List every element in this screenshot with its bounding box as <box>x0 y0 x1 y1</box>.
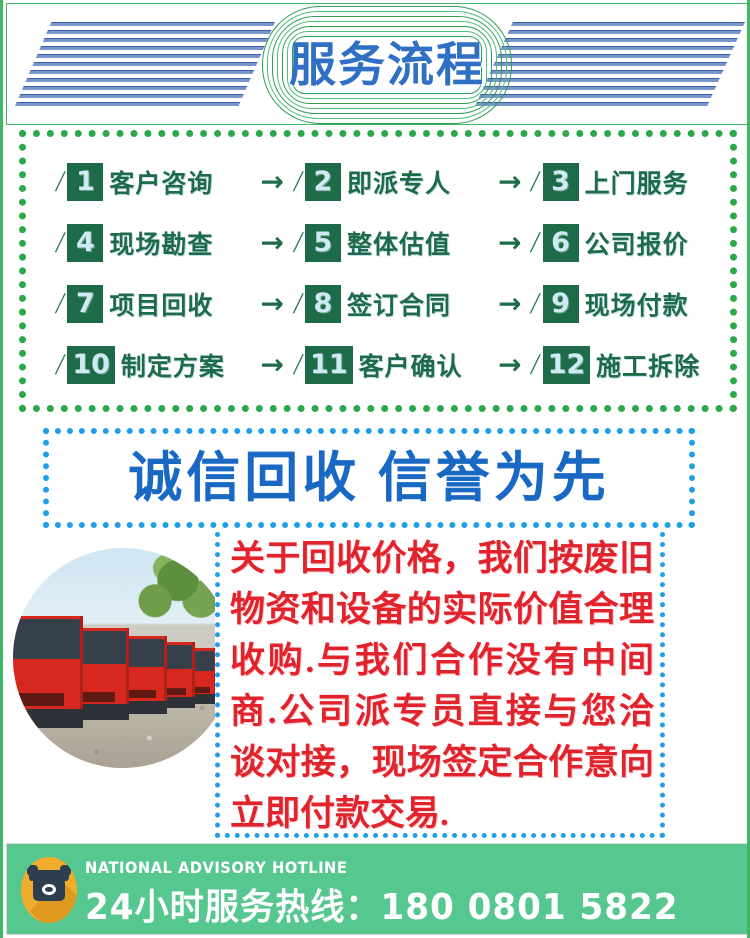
flow-step-3: /3上门服务 <box>531 163 726 201</box>
flow-step-12: /12施工拆除 <box>531 346 726 384</box>
truck-windshield <box>193 651 214 671</box>
step-label: 即派专人 <box>347 164 451 200</box>
truck <box>13 616 83 728</box>
slash-icon: / <box>529 289 542 319</box>
truck-windshield <box>13 619 80 659</box>
slash-icon: / <box>292 228 305 258</box>
step-label: 施工拆除 <box>596 347 700 383</box>
step-label: 公司报价 <box>585 225 689 261</box>
step-number: 6 <box>543 224 579 262</box>
arrow-icon: → <box>488 351 531 379</box>
slash-icon: / <box>54 228 67 258</box>
arrow-icon: → <box>488 290 531 318</box>
telephone-handset <box>29 870 69 881</box>
truck <box>75 628 129 720</box>
step-number: 1 <box>67 163 103 201</box>
flow-step-8: /8签订合同 <box>294 285 489 323</box>
flow-step-7: /7项目回收 <box>56 285 251 323</box>
truck-photo <box>13 548 233 768</box>
step-label: 上门服务 <box>585 164 689 200</box>
step-number: 4 <box>67 224 103 262</box>
flow-step-9: /9现场付款 <box>531 285 726 323</box>
truck-photo-image <box>13 548 233 768</box>
flow-row: /7项目回收→/8签订合同→/9现场付款 <box>30 275 726 333</box>
step-label: 签订合同 <box>347 286 451 322</box>
page-title: 服务流程 <box>289 42 485 89</box>
telephone-icon <box>21 857 77 923</box>
step-number: 8 <box>305 285 341 323</box>
arrow-icon: → <box>251 351 294 379</box>
footer-hotline-bar: NATIONAL ADVISORY HOTLINE 24小时服务热线：180 0… <box>6 843 750 935</box>
slash-icon: / <box>54 350 67 380</box>
page-title-wrap: 服务流程 <box>262 6 512 124</box>
flow-row: /1客户咨询→/2即派专人→/3上门服务 <box>30 153 726 211</box>
footer-english-label: NATIONAL ADVISORY HOTLINE <box>85 858 347 877</box>
flow-step-5: /5整体估值 <box>294 224 489 262</box>
notice-box: 关于回收价格，我们按废旧物资和设备的实际价值合理收购.与我们合作没有中间商.公司… <box>215 522 665 838</box>
slash-icon: / <box>529 350 542 380</box>
flow-step-6: /6公司报价 <box>531 224 726 262</box>
step-label: 整体估值 <box>347 225 451 261</box>
stripe-lines <box>475 22 745 106</box>
step-label: 现场勘查 <box>109 225 213 261</box>
footer-hotline-text: 24小时服务热线：180 0801 5822 <box>85 878 678 930</box>
arrow-icon: → <box>251 290 294 318</box>
flow-step-10: /10制定方案 <box>56 346 251 384</box>
slash-icon: / <box>529 228 542 258</box>
truck-windshield <box>79 631 126 664</box>
flow-row: /4现场勘查→/5整体估值→/6公司报价 <box>30 214 726 272</box>
truck-grill <box>81 692 114 702</box>
slash-icon: / <box>292 350 305 380</box>
process-flow-panel: /1客户咨询→/2即派专人→/3上门服务/4现场勘查→/5整体估值→/6公司报价… <box>19 130 737 412</box>
truck-grill <box>18 693 64 705</box>
slogan-text: 诚信回收 信誉为先 <box>128 451 610 505</box>
step-number: 12 <box>543 346 591 384</box>
flow-step-2: /2即派专人 <box>294 163 489 201</box>
slash-icon: / <box>54 289 67 319</box>
step-number: 7 <box>67 285 103 323</box>
truck <box>123 636 167 714</box>
notice-text: 关于回收价格，我们按废旧物资和设备的实际价值合理收购.与我们合作没有中间商.公司… <box>230 533 654 839</box>
slash-icon: / <box>292 167 305 197</box>
step-label: 项目回收 <box>109 286 213 322</box>
step-number: 2 <box>305 163 341 201</box>
truck-windshield <box>127 639 164 667</box>
flow-step-1: /1客户咨询 <box>56 163 251 201</box>
header-banner: 服务流程 <box>6 3 750 125</box>
process-flow-rows: /1客户咨询→/2即派专人→/3上门服务/4现场勘查→/5整体估值→/6公司报价… <box>26 137 730 405</box>
flow-row: /10制定方案→/11客户确认→/12施工拆除 <box>30 336 726 394</box>
telephone-dial <box>42 884 56 895</box>
step-number: 5 <box>305 224 341 262</box>
telephone-body <box>33 879 65 901</box>
slash-icon: / <box>292 289 305 319</box>
step-number: 3 <box>543 163 579 201</box>
poster-page: 服务流程 /1客户咨询→/2即派专人→/3上门服务/4现场勘查→/5整体估值→/… <box>0 0 750 938</box>
right-stripe-decoration <box>475 22 745 106</box>
slogan-box: 诚信回收 信誉为先 <box>43 428 695 528</box>
truck-grill <box>165 688 186 695</box>
left-stripe-decoration <box>15 22 275 106</box>
step-label: 客户咨询 <box>109 164 213 200</box>
step-number: 11 <box>305 346 353 384</box>
step-label: 客户确认 <box>359 347 463 383</box>
slash-icon: / <box>529 167 542 197</box>
step-label: 现场付款 <box>585 286 689 322</box>
step-number: 9 <box>543 285 579 323</box>
truck-bumper <box>13 709 83 728</box>
truck-bumper <box>123 701 167 714</box>
arrow-icon: → <box>251 229 294 257</box>
truck-windshield <box>165 645 192 669</box>
step-number: 10 <box>67 346 115 384</box>
stripe-lines <box>15 22 275 106</box>
truck-grill <box>128 690 155 699</box>
arrow-icon: → <box>488 229 531 257</box>
arrow-icon: → <box>488 168 531 196</box>
slash-icon: / <box>54 167 67 197</box>
arrow-icon: → <box>251 168 294 196</box>
step-label: 制定方案 <box>121 347 225 383</box>
flow-step-4: /4现场勘查 <box>56 224 251 262</box>
truck-bumper <box>75 704 129 720</box>
flow-step-11: /11客户确认 <box>294 346 489 384</box>
